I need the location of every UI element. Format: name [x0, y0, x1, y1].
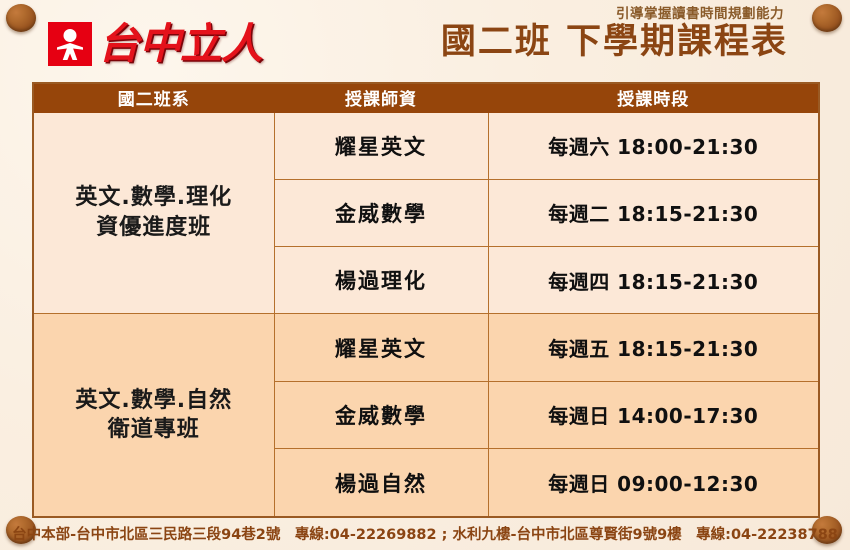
teacher-cell: 金威數學: [274, 381, 488, 448]
teacher-cell: 楊過自然: [274, 449, 488, 517]
column-header-time: 授課時段: [488, 83, 819, 112]
brand-name: 台中立人: [98, 23, 262, 65]
table-header-row: 國二班系 授課師資 授課時段: [33, 83, 819, 112]
table-row: 英文.數學.理化 資優進度班 耀星英文 每週六 18:00-21:30: [33, 112, 819, 179]
brand-logo: 台中立人: [48, 22, 262, 66]
time-cell: 每週日 14:00-17:30: [488, 381, 819, 448]
program-cell: 英文.數學.自然 衛道專班: [33, 314, 274, 517]
footer-contact: 台中本部-台中市北區三民路三段94巷2號 專線:04-22269882 ; 水利…: [0, 523, 850, 544]
teacher-cell: 耀星英文: [274, 314, 488, 381]
person-mark-icon: [48, 22, 92, 66]
time-cell: 每週二 18:15-21:30: [488, 179, 819, 246]
program-line-2: 資優進度班: [34, 213, 274, 243]
program-cell: 英文.數學.理化 資優進度班: [33, 112, 274, 314]
time-cell: 每週日 09:00-12:30: [488, 449, 819, 517]
course-schedule-table: 國二班系 授課師資 授課時段 英文.數學.理化 資優進度班 耀星英文 每週六 1…: [32, 82, 820, 518]
teacher-cell: 耀星英文: [274, 112, 488, 179]
table-row: 英文.數學.自然 衛道專班 耀星英文 每週五 18:15-21:30: [33, 314, 819, 381]
teacher-cell: 楊過理化: [274, 247, 488, 314]
person-body-shape: [57, 43, 83, 60]
time-cell: 每週六 18:00-21:30: [488, 112, 819, 179]
poster-page: 台中立人 引導掌握讀書時間規劃能力 國二班 下學期課程表 國二班系 授課師資 授…: [0, 0, 850, 550]
program-line-1: 英文.數學.理化: [34, 183, 274, 213]
person-head-shape: [64, 29, 77, 42]
program-line-2: 衛道專班: [34, 415, 274, 445]
poster-title: 國二班 下學期課程表: [441, 23, 788, 62]
column-header-program: 國二班系: [33, 83, 274, 112]
program-line-1: 英文.數學.自然: [34, 386, 274, 416]
time-cell: 每週四 18:15-21:30: [488, 247, 819, 314]
poster-subtitle: 引導掌握讀書時間規劃能力: [441, 6, 784, 24]
title-block: 引導掌握讀書時間規劃能力 國二班 下學期課程表: [441, 6, 788, 62]
poster-header: 台中立人 引導掌握讀書時間規劃能力 國二班 下學期課程表: [0, 0, 850, 82]
time-cell: 每週五 18:15-21:30: [488, 314, 819, 381]
teacher-cell: 金威數學: [274, 179, 488, 246]
column-header-teacher: 授課師資: [274, 83, 488, 112]
